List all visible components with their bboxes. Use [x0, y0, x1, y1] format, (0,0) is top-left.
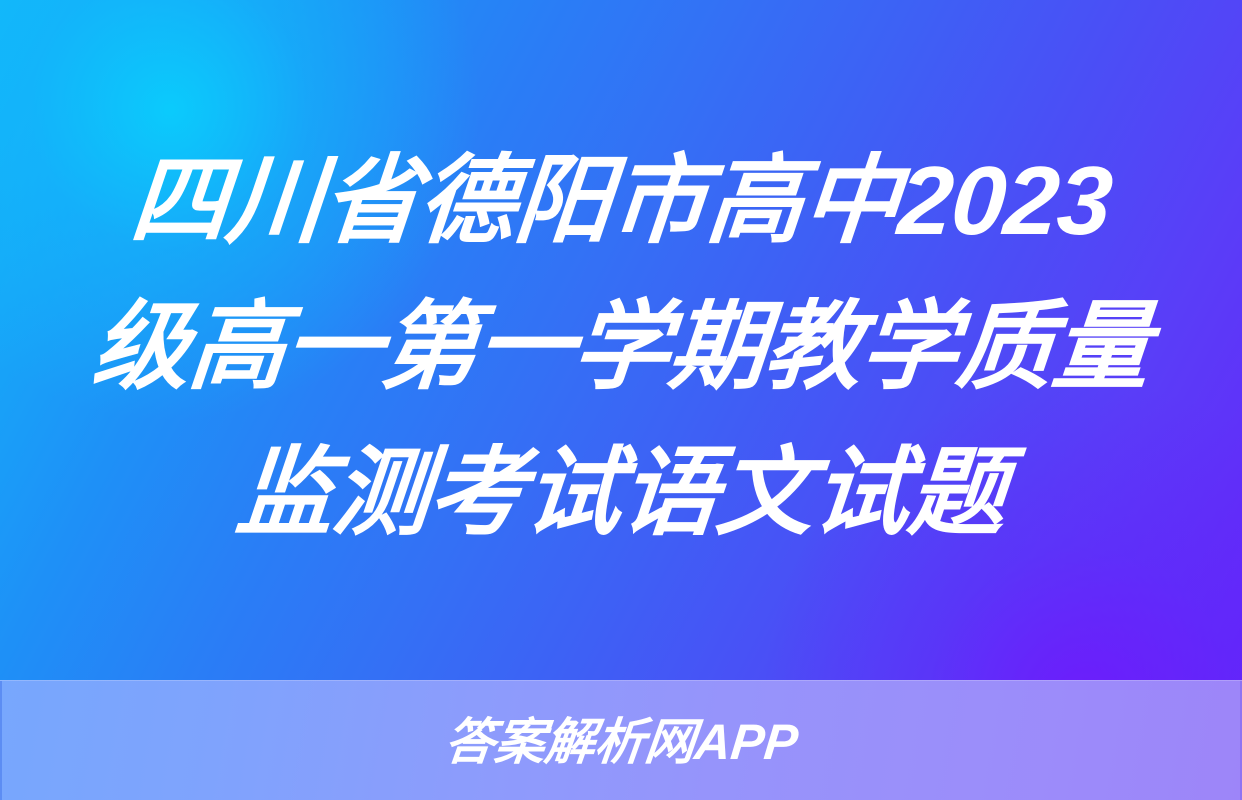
page-title: 四川省德阳市高中2023 级高一第一学期教学质量 监测考试语文试题 [0, 0, 1242, 680]
title-line-2: 级高一第一学期教学质量 [87, 274, 1156, 420]
footer-watermark-band: 答案解析网APP [0, 680, 1242, 800]
app-watermark-label: 答案解析网APP [442, 714, 801, 770]
title-line-1: 四川省德阳市高中2023 [125, 128, 1118, 274]
title-line-3: 监测考试语文试题 [231, 420, 1012, 566]
exam-cover-banner: 四川省德阳市高中2023 级高一第一学期教学质量 监测考试语文试题 答案解析网A… [0, 0, 1242, 800]
